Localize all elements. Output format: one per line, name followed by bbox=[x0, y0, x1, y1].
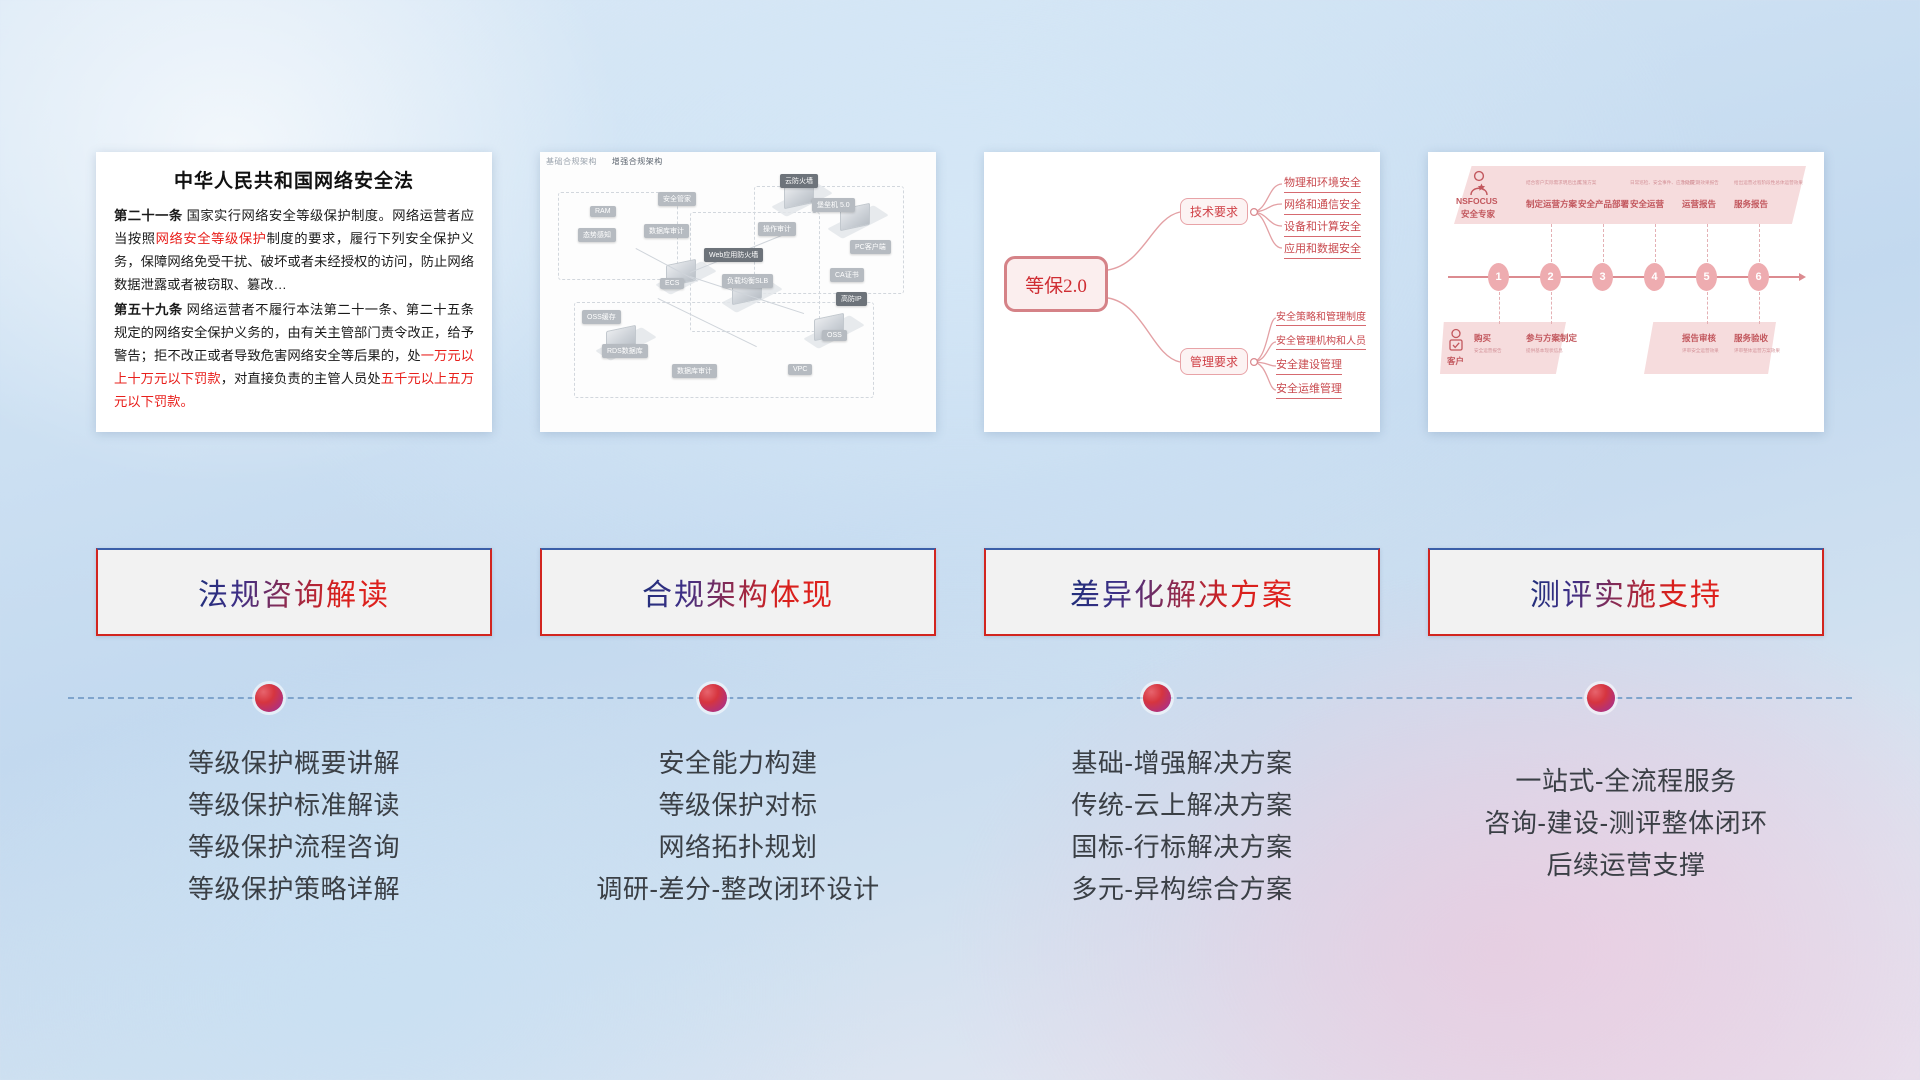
roadmap-step-dot[interactable]: 1 bbox=[1488, 263, 1509, 291]
arch-node: RDS数据库 bbox=[602, 344, 648, 358]
roadmap-step-top-label: 安全运营 bbox=[1630, 198, 1664, 210]
list-item: 等级保护流程咨询 bbox=[96, 826, 492, 868]
mindmap-branch-technical[interactable]: 技术要求 bbox=[1180, 198, 1248, 225]
roadmap-step-top-label: 运营报告 bbox=[1682, 198, 1716, 210]
roadmap-step-top-label: 服务报告 bbox=[1734, 198, 1768, 210]
roadmap-step-top-sub: 给出运营过程阶段性总体运营效果 bbox=[1734, 180, 1803, 186]
roadmap-connector bbox=[1603, 224, 1604, 262]
mindmap-leaf-tech-4[interactable]: 应用和数据安全 bbox=[1284, 240, 1361, 259]
list-item: 后续运营支撑 bbox=[1428, 844, 1824, 886]
arch-node: Web应用防火墙 bbox=[704, 248, 763, 262]
roadmap-connector bbox=[1707, 292, 1708, 324]
title-label-architecture: 合规架构体现 bbox=[642, 570, 834, 614]
roadmap-step-dot[interactable]: 2 bbox=[1540, 263, 1561, 291]
arch-node: PC客户端 bbox=[850, 240, 891, 254]
list-item: 基础-增强解决方案 bbox=[984, 742, 1380, 784]
arch-node: OSS缓存 bbox=[582, 310, 621, 324]
roadmap-step-top-label: 安全产品部署 bbox=[1578, 198, 1629, 210]
law-run-1b-highlight: 网络安全等级保护 bbox=[156, 231, 267, 246]
mindmap-leaf-mgmt-2[interactable]: 安全管理机构和人员 bbox=[1276, 332, 1366, 350]
list-item: 咨询-建设-测评整体闭环 bbox=[1428, 802, 1824, 844]
roadmap-step-bottom-sub: 评审安全运营效果 bbox=[1682, 348, 1719, 354]
mindmap-leaf-mgmt-1[interactable]: 安全策略和管理制度 bbox=[1276, 308, 1366, 326]
architecture-tabs[interactable]: 基础合规架构 增强合规架构 bbox=[546, 156, 675, 167]
roadmap-connector bbox=[1707, 224, 1708, 262]
arch-node: 数据库审计 bbox=[672, 364, 717, 378]
roadmap-step-bottom-sub: 安全运营报告 bbox=[1474, 348, 1502, 354]
roadmap-connector bbox=[1551, 224, 1552, 262]
arch-node: 云防火墙 bbox=[780, 174, 818, 188]
roadmap-step-dot[interactable]: 3 bbox=[1592, 263, 1613, 291]
law-paragraph-2: 第五十九条 网络运营者不履行本法第二十一条、第二十五条规定的网络安全保护义务的，… bbox=[114, 299, 474, 413]
mindmap-root-node[interactable]: 等保2.0 bbox=[1004, 256, 1108, 312]
roadmap-connector bbox=[1551, 292, 1552, 324]
roadmap-step-dot[interactable]: 4 bbox=[1644, 263, 1665, 291]
list-item: 网络拓扑规划 bbox=[540, 826, 936, 868]
roadmap-actor-top-role: 安全专家 bbox=[1461, 208, 1495, 220]
law-article-label-2: 第五十九条 bbox=[114, 302, 183, 317]
roadmap-actor-bottom-role: 客户 bbox=[1447, 355, 1464, 367]
timeline-dot-4[interactable] bbox=[1587, 684, 1615, 712]
law-run-2c: ，对直接负责的主管人员处 bbox=[221, 371, 381, 386]
arch-node: 数据库审计 bbox=[644, 224, 689, 238]
roadmap-step-bottom-label: 参与方案制定 bbox=[1526, 332, 1577, 344]
roadmap-step-top-sub: 结合客户实际需求明后出具 bbox=[1526, 180, 1581, 186]
roadmap-step-top-sub: 针对定期效果报告 bbox=[1682, 180, 1719, 186]
law-article-label-1: 第二十一条 bbox=[114, 208, 183, 223]
roadmap-connector bbox=[1499, 292, 1500, 324]
arch-node: 高防IP bbox=[836, 292, 867, 306]
mindmap-leaf-mgmt-3[interactable]: 安全建设管理 bbox=[1276, 356, 1342, 375]
list-item: 国标-行标解决方案 bbox=[984, 826, 1380, 868]
list-column-assessment: 一站式-全流程服务 咨询-建设-测评整体闭环 后续运营支撑 bbox=[1428, 742, 1824, 910]
list-row: 等级保护概要讲解 等级保护标准解读 等级保护流程咨询 等级保护策略详解 安全能力… bbox=[0, 742, 1920, 910]
roadmap-actor-top-name: NSFOCUS bbox=[1456, 196, 1498, 206]
list-item: 等级保护对标 bbox=[540, 784, 936, 826]
mindmap: 等保2.0 技术要求 管理要求 物理和环境安全 网络和通信安全 设备和计算安全 … bbox=[984, 152, 1380, 432]
person-check-icon bbox=[1446, 328, 1466, 354]
arch-node: 态势感知 bbox=[578, 228, 616, 242]
roadmap-step-bottom-sub: 评审整体运营方案效果 bbox=[1734, 348, 1780, 354]
list-item: 等级保护策略详解 bbox=[96, 868, 492, 910]
list-item: 安全能力构建 bbox=[540, 742, 936, 784]
law-card-body: 中华人民共和国网络安全法 第二十一条 国家实行网络安全等级保护制度。网络运营者应… bbox=[96, 152, 492, 427]
mindmap-leaf-mgmt-4[interactable]: 安全运维管理 bbox=[1276, 380, 1342, 399]
timeline-dot-3[interactable] bbox=[1143, 684, 1171, 712]
list-column-solution: 基础-增强解决方案 传统-云上解决方案 国标-行标解决方案 多元-异构综合方案 bbox=[984, 742, 1380, 910]
roadmap-step-top-label: 制定运营方案 bbox=[1526, 198, 1577, 210]
list-column-regulation: 等级保护概要讲解 等级保护标准解读 等级保护流程咨询 等级保护策略详解 bbox=[96, 742, 492, 910]
architecture-card[interactable]: 基础合规架构 增强合规架构 云防火墙安全管家RAM堡垒机 5.0态势 bbox=[540, 152, 936, 432]
architecture-diagram: 基础合规架构 增强合规架构 云防火墙安全管家RAM堡垒机 5.0态势 bbox=[540, 152, 936, 432]
arch-node: ECS bbox=[660, 278, 684, 289]
mindmap-card[interactable]: 等保2.0 技术要求 管理要求 物理和环境安全 网络和通信安全 设备和计算安全 … bbox=[984, 152, 1380, 432]
timeline-dot-1[interactable] bbox=[255, 684, 283, 712]
title-box-architecture[interactable]: 合规架构体现 bbox=[540, 548, 936, 636]
roadmap-connector bbox=[1655, 224, 1656, 262]
roadmap-step-bottom-label: 报告审核 bbox=[1682, 332, 1716, 344]
roadmap-connector bbox=[1759, 292, 1760, 324]
roadmap-step-bottom-label: 服务验收 bbox=[1734, 332, 1768, 344]
arch-node: 负载均衡SLB bbox=[722, 274, 773, 288]
arch-node: OSS bbox=[822, 330, 847, 341]
tab-enhanced-architecture[interactable]: 增强合规架构 bbox=[612, 157, 663, 166]
law-paragraph-1: 第二十一条 国家实行网络安全等级保护制度。网络运营者应当按照网络安全等级保护制度… bbox=[114, 205, 474, 296]
law-card[interactable]: 中华人民共和国网络安全法 第二十一条 国家实行网络安全等级保护制度。网络运营者应… bbox=[96, 152, 492, 432]
roadmap-band-top bbox=[1454, 166, 1806, 224]
law-card-title: 中华人民共和国网络安全法 bbox=[114, 166, 474, 193]
person-star-icon bbox=[1468, 170, 1490, 196]
arch-node: 操作审计 bbox=[758, 222, 796, 236]
timeline-dot-2[interactable] bbox=[699, 684, 727, 712]
mindmap-leaf-tech-3[interactable]: 设备和计算安全 bbox=[1284, 218, 1361, 237]
title-label-solution: 差异化解决方案 bbox=[1070, 570, 1294, 614]
mindmap-leaf-tech-1[interactable]: 物理和环境安全 bbox=[1284, 174, 1361, 193]
arch-node: RAM bbox=[590, 206, 616, 217]
title-box-solution[interactable]: 差异化解决方案 bbox=[984, 548, 1380, 636]
card-row: 中华人民共和国网络安全法 第二十一条 国家实行网络安全等级保护制度。网络运营者应… bbox=[0, 152, 1920, 442]
list-item: 一站式-全流程服务 bbox=[1428, 760, 1824, 802]
arch-node: CA证书 bbox=[830, 268, 864, 282]
roadmap-connector bbox=[1759, 224, 1760, 262]
roadmap-step-dot[interactable]: 6 bbox=[1748, 263, 1769, 291]
title-box-regulation[interactable]: 法规咨询解读 bbox=[96, 548, 492, 636]
list-column-architecture: 安全能力构建 等级保护对标 网络拓扑规划 调研-差分-整改闭环设计 bbox=[540, 742, 936, 910]
mindmap-leaf-tech-2[interactable]: 网络和通信安全 bbox=[1284, 196, 1361, 215]
roadmap-step-bottom-sub: 提供基本现状信息 bbox=[1526, 348, 1563, 354]
list-item: 等级保护概要讲解 bbox=[96, 742, 492, 784]
roadmap-step-dot[interactable]: 5 bbox=[1696, 263, 1717, 291]
roadmap-step-bottom-label: 购买 bbox=[1474, 332, 1491, 344]
arch-node: VPC bbox=[788, 364, 812, 375]
arch-node: 堡垒机 5.0 bbox=[812, 198, 855, 212]
title-label-assessment: 测评实施支持 bbox=[1530, 570, 1722, 614]
list-item: 调研-差分-整改闭环设计 bbox=[540, 868, 936, 910]
tab-basic-architecture[interactable]: 基础合规架构 bbox=[546, 157, 597, 166]
title-row: 法规咨询解读 合规架构体现 差异化解决方案 测评实施支持 bbox=[0, 548, 1920, 636]
title-box-assessment[interactable]: 测评实施支持 bbox=[1428, 548, 1824, 636]
title-label-regulation: 法规咨询解读 bbox=[198, 570, 390, 614]
list-item: 等级保护标准解读 bbox=[96, 784, 492, 826]
roadmap-step-top-sub: 实施方案 bbox=[1578, 180, 1596, 186]
list-item: 多元-异构综合方案 bbox=[984, 868, 1380, 910]
roadmap-card[interactable]: NSFOCUS 安全专家 客户 1购买安全运营报告2制定运营方案结合客户实际需求… bbox=[1428, 152, 1824, 432]
roadmap: NSFOCUS 安全专家 客户 1购买安全运营报告2制定运营方案结合客户实际需求… bbox=[1428, 152, 1824, 432]
mindmap-branch-management[interactable]: 管理要求 bbox=[1180, 348, 1248, 375]
arch-node: 安全管家 bbox=[658, 192, 696, 206]
list-item: 传统-云上解决方案 bbox=[984, 784, 1380, 826]
timeline-track bbox=[68, 697, 1852, 699]
